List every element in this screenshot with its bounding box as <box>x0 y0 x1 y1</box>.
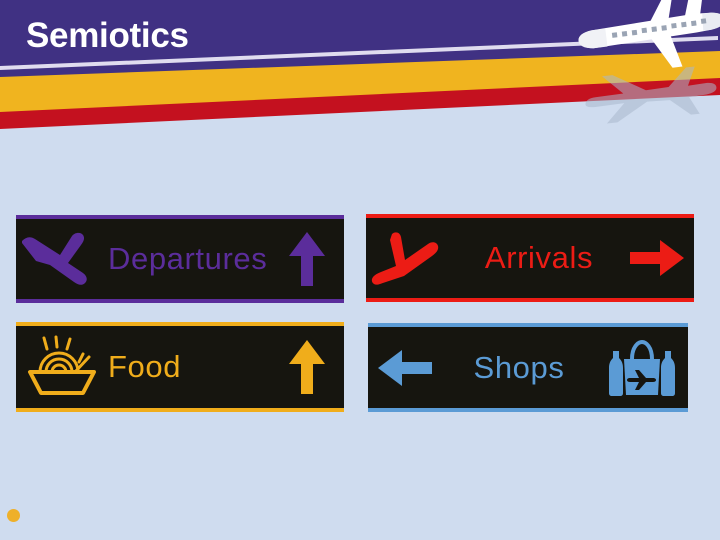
page-title: Semiotics <box>26 14 189 58</box>
sign-label-departures: Departures <box>108 241 270 277</box>
sign-panel-shops[interactable]: Shops <box>368 323 688 412</box>
arrow-right-icon <box>620 238 694 278</box>
sign-label-food: Food <box>108 349 270 385</box>
arrow-up-icon <box>270 230 344 288</box>
plane-landing-icon <box>366 230 458 286</box>
arrow-up-icon <box>270 338 344 396</box>
sign-panel-food[interactable]: Food <box>16 322 344 412</box>
footer-bullet-dot <box>7 509 20 522</box>
noodle-bowl-icon <box>16 336 108 398</box>
sign-label-arrivals: Arrivals <box>458 240 620 276</box>
sign-label-shops: Shops <box>442 350 596 386</box>
slide-canvas: Semiotics Departures <box>0 0 720 540</box>
sign-panel-departures[interactable]: Departures <box>16 215 344 303</box>
duty-free-bag-icon <box>596 337 688 399</box>
arrow-left-icon <box>368 348 442 388</box>
sign-panel-arrivals[interactable]: Arrivals <box>366 214 694 302</box>
plane-takeoff-icon <box>16 231 108 287</box>
